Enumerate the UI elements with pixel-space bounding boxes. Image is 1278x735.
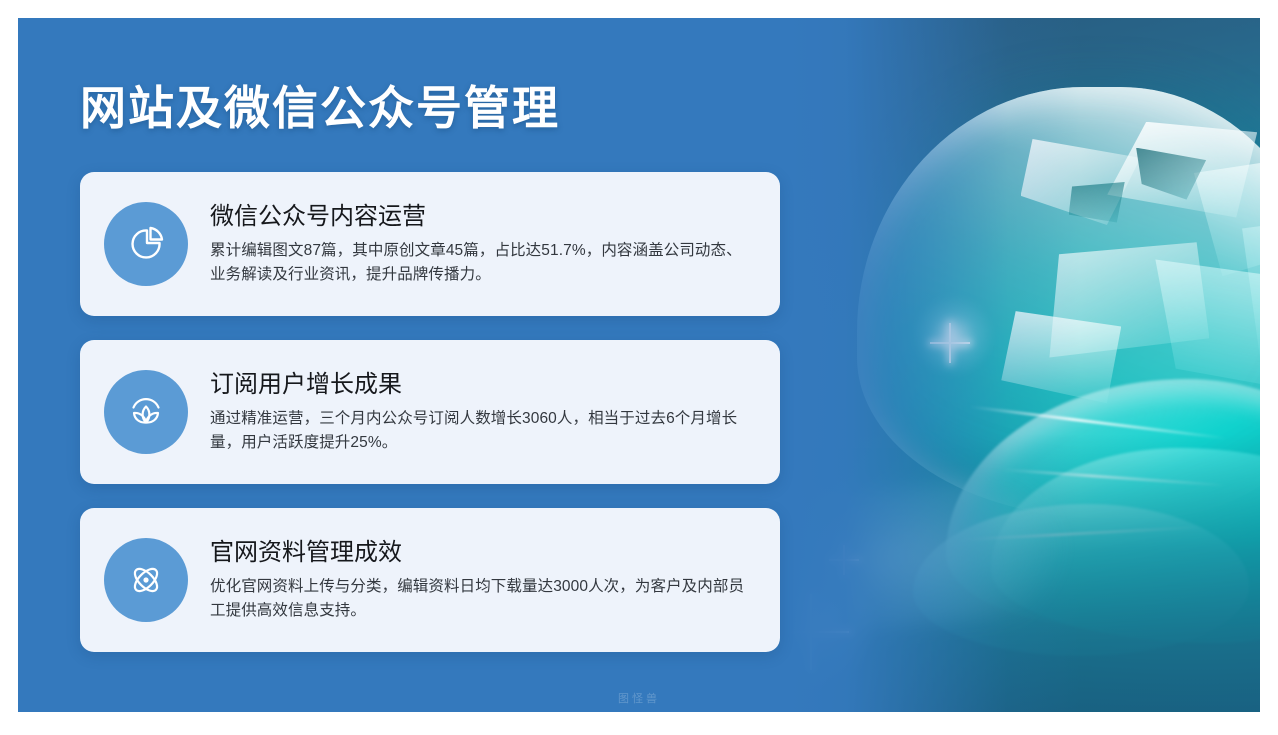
card-list: 微信公众号内容运营 累计编辑图文87篇，其中原创文章45篇，占比达51.7%，内… — [80, 172, 780, 676]
page-title: 网站及微信公众号管理 — [80, 72, 560, 138]
card-description: 累计编辑图文87篇，其中原创文章45篇，占比达51.7%，内容涵盖公司动态、业务… — [210, 239, 754, 287]
watermark: 图怪兽 — [618, 690, 660, 706]
card-description: 优化官网资料上传与分类，编辑资料日均下载量达3000人次，为客户及内部员工提供高… — [210, 575, 754, 623]
card-description: 通过精准运营，三个月内公众号订阅人数增长3060人，相当于过去6个月增长量，用户… — [210, 407, 754, 455]
card-item[interactable]: 订阅用户增长成果 通过精准运营，三个月内公众号订阅人数增长3060人，相当于过去… — [80, 340, 780, 484]
card-text: 订阅用户增长成果 通过精准运营，三个月内公众号订阅人数增长3060人，相当于过去… — [210, 369, 754, 456]
card-title: 微信公众号内容运营 — [210, 203, 754, 232]
slide-frame: 网站及微信公众号管理 微信公众号内容运营 累计编辑图文87篇，其中原创文章45篇… — [18, 18, 1260, 712]
card-text: 官网资料管理成效 优化官网资料上传与分类，编辑资料日均下载量达3000人次，为客… — [210, 537, 754, 624]
card-item[interactable]: 微信公众号内容运营 累计编辑图文87篇，其中原创文章45篇，占比达51.7%，内… — [80, 172, 780, 316]
card-title: 官网资料管理成效 — [210, 539, 754, 568]
lotus-growth-icon — [104, 370, 188, 454]
atom-icon — [104, 538, 188, 622]
content-column: 网站及微信公众号管理 微信公众号内容运营 累计编辑图文87篇，其中原创文章45篇… — [18, 18, 818, 712]
card-item[interactable]: 官网资料管理成效 优化官网资料上传与分类，编辑资料日均下载量达3000人次，为客… — [80, 508, 780, 652]
card-text: 微信公众号内容运营 累计编辑图文87篇，其中原创文章45篇，占比达51.7%，内… — [210, 201, 754, 288]
pie-chart-icon — [104, 202, 188, 286]
card-title: 订阅用户增长成果 — [210, 371, 754, 400]
